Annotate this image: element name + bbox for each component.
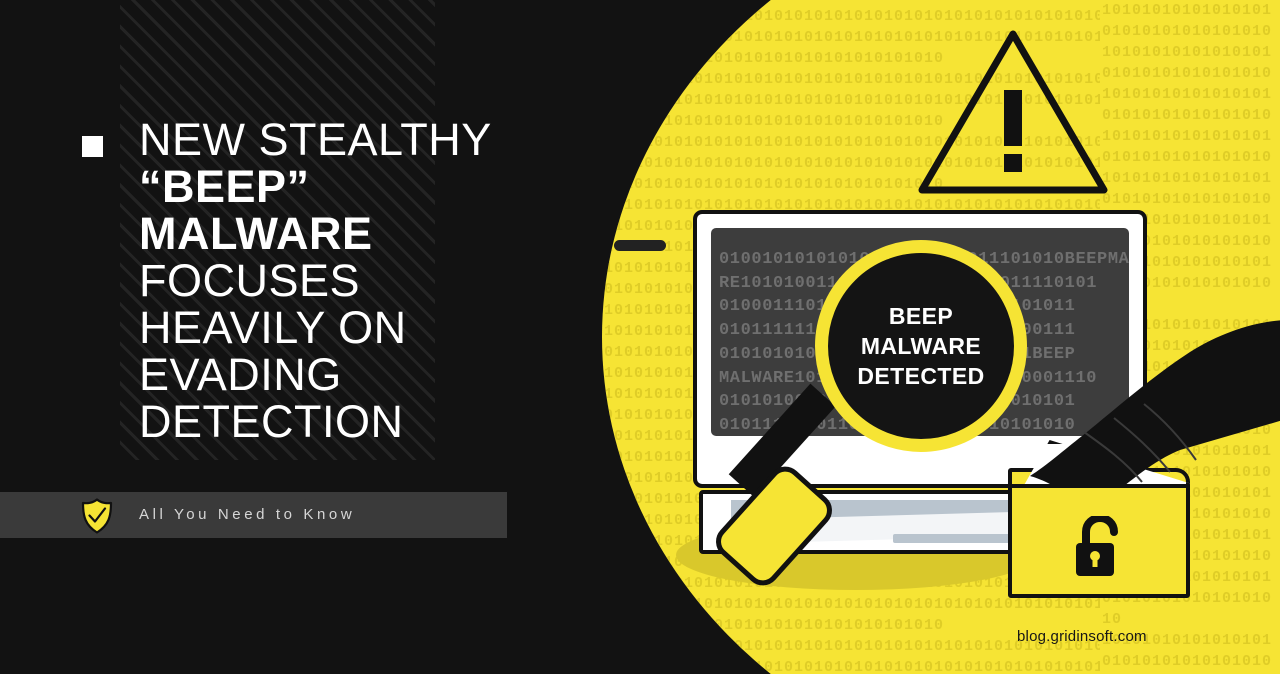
malware-alert-text: BEEP MALWARE DETECTED: [857, 301, 984, 391]
shield-check-icon: [80, 498, 114, 534]
page-title: NEW STEALTHY “BEEP” MALWARE FOCUSES HEAV…: [139, 116, 569, 445]
headline-line-1: NEW STEALTHY: [139, 116, 569, 163]
warning-triangle-icon: [918, 28, 1108, 196]
square-bullet-icon: [82, 136, 103, 157]
blog-url: blog.gridinsoft.com: [1017, 628, 1147, 645]
webcam-dot-icon: [614, 240, 666, 251]
unlocked-padlock-icon: [1072, 516, 1126, 578]
subtitle-label: All You Need to Know: [139, 506, 355, 523]
alert-line-2: MALWARE: [857, 331, 984, 361]
alert-line-3: DETECTED: [857, 361, 984, 391]
hand-stealing-document-icon: [1030, 300, 1280, 500]
magnifying-glass-icon: BEEP MALWARE DETECTED: [815, 240, 1027, 452]
headline-line-5: HEAVILY ON: [139, 304, 569, 351]
headline-line-6: EVADING: [139, 351, 569, 398]
headline-line-4: FOCUSES: [139, 257, 569, 304]
headline-line-3: MALWARE: [139, 210, 569, 257]
alert-line-1: BEEP: [857, 301, 984, 331]
banner-canvas: 1010101010101010101010101010101010101010…: [0, 0, 1280, 674]
headline-line-7: DETECTION: [139, 398, 569, 445]
headline-line-2: “BEEP”: [139, 163, 569, 210]
